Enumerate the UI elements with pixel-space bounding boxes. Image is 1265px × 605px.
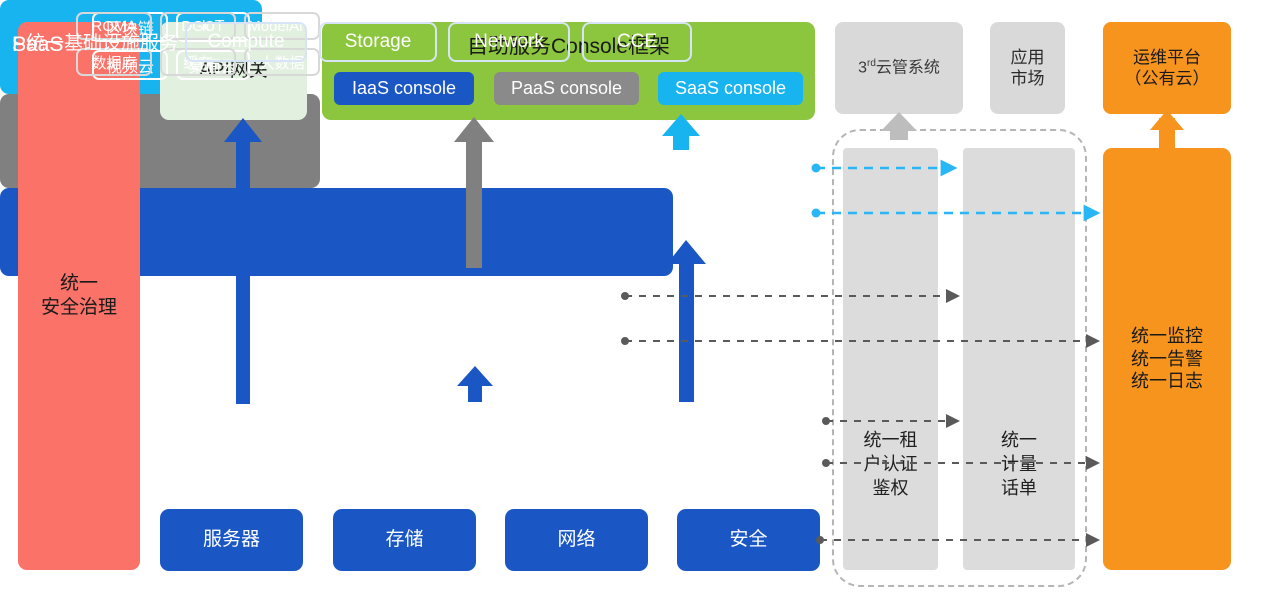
saas-console-button[interactable]: SaaS console	[658, 72, 803, 105]
bottom-box-server[interactable]: 服务器	[160, 509, 303, 571]
infra-chip-cce[interactable]: CCE	[582, 22, 692, 62]
unified-infrastructure-service-label: 统一基础设施服务	[14, 28, 190, 55]
unified-monitoring-alarm-log-panel[interactable]: 统一监控 统一告警 统一日志	[1103, 148, 1231, 570]
third-party-prefix: 3	[858, 59, 867, 76]
bottom-box-security[interactable]: 安全	[677, 509, 820, 571]
third-party-superscript: rd	[867, 58, 876, 69]
bottom-box-storage[interactable]: 存储	[333, 509, 476, 571]
architecture-diagram: 统一 安全治理 API网关 自助服务Console框架 IaaS console…	[0, 0, 1265, 605]
paas-console-button[interactable]: PaaS console	[494, 72, 639, 105]
infra-chip-network[interactable]: Network	[448, 22, 570, 62]
application-market-box[interactable]: 应用 市场	[990, 22, 1065, 114]
arrow-up-to-ops-platform	[1150, 110, 1184, 148]
unified-security-governance-panel[interactable]: 统一 安全治理	[18, 22, 140, 570]
infra-chip-compute[interactable]: Compute	[185, 22, 307, 62]
unified-tenant-auth-label: 统一租 户认证 鉴权	[843, 429, 938, 500]
unified-tenant-auth-column[interactable]: 统一租 户认证 鉴权	[843, 148, 938, 570]
third-party-suffix: 云管系统	[876, 59, 940, 76]
unified-metering-billing-label: 统一 计量 话单	[963, 429, 1075, 500]
iaas-console-button[interactable]: IaaS console	[334, 72, 474, 105]
arrow-infra-to-paas	[457, 366, 493, 402]
bottom-box-network[interactable]: 网络	[505, 509, 648, 571]
unified-metering-billing-column[interactable]: 统一 计量 话单	[963, 148, 1075, 570]
third-party-cloud-management-box[interactable]: 3rd云管系统	[835, 22, 963, 114]
third-party-label: 3rd云管系统	[858, 58, 940, 78]
ops-platform-public-cloud-box[interactable]: 运维平台 （公有云）	[1103, 22, 1231, 114]
infra-chip-storage[interactable]: Storage	[319, 22, 437, 62]
